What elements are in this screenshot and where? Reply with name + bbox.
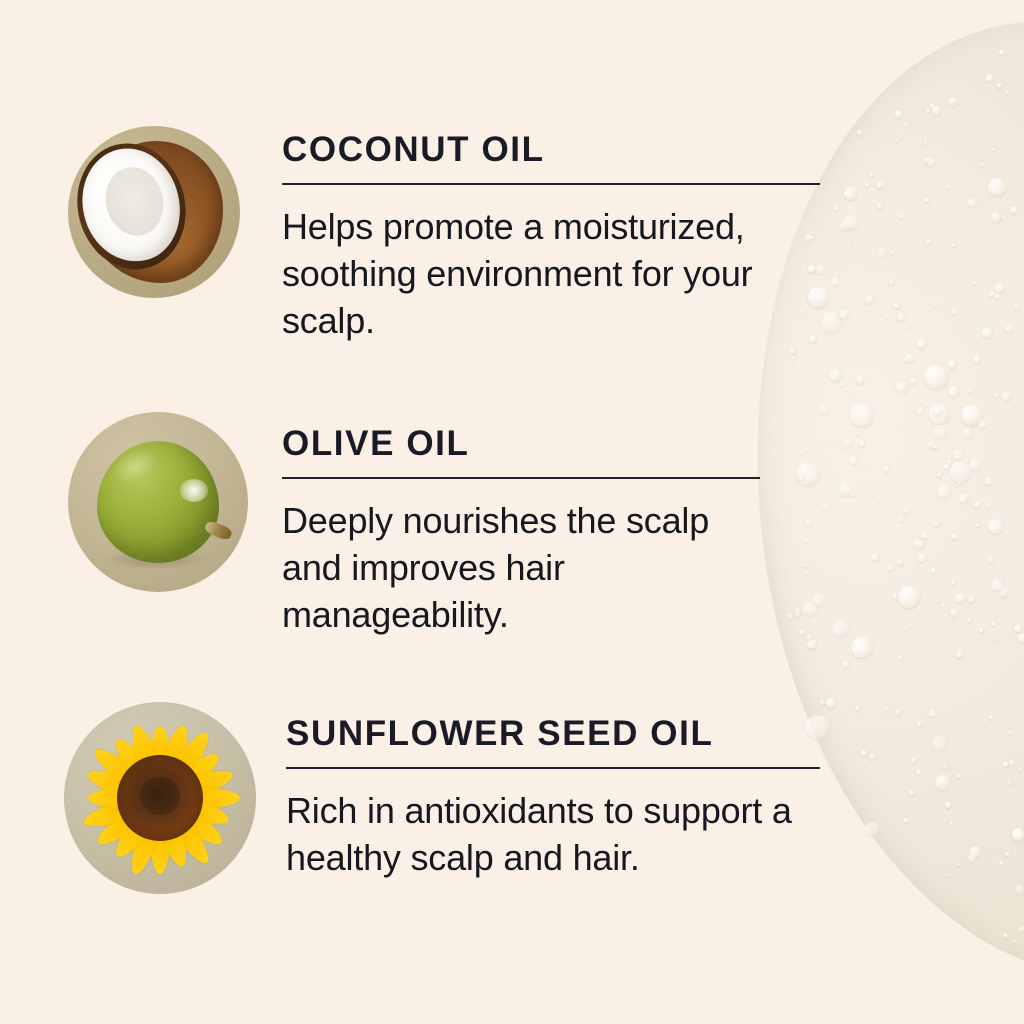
gel-bubble <box>988 291 994 297</box>
gel-bubble <box>798 475 803 480</box>
gel-bubble <box>994 293 1000 299</box>
gel-bubble <box>850 456 859 465</box>
olive-body-shape <box>97 441 219 563</box>
gel-bubble <box>926 158 934 166</box>
gel-bubble <box>807 635 812 640</box>
gel-bubble <box>811 465 815 469</box>
gel-bubble <box>1013 302 1020 309</box>
gel-bubble <box>831 277 840 286</box>
gel-bubble <box>985 477 993 485</box>
ingredient-benefits-poster: COCONUT OIL Helps promote a moisturized,… <box>0 0 1024 1024</box>
gel-bubble <box>968 390 971 393</box>
gel-bubble <box>861 750 867 756</box>
gel-bubble <box>970 846 982 858</box>
gel-bubble <box>941 603 945 607</box>
gel-bubble <box>972 281 976 285</box>
gel-bubble <box>924 198 929 203</box>
gel-bubble <box>1012 828 1024 840</box>
gel-bubble <box>911 758 916 763</box>
gel-bubble <box>956 774 960 778</box>
gel-bubble <box>933 444 937 448</box>
gel-bubble <box>868 161 871 164</box>
gel-bubble <box>896 382 907 393</box>
gel-bubble <box>937 484 951 498</box>
coconut-image <box>68 126 240 298</box>
gel-bubble <box>866 296 874 304</box>
gel-bubble <box>902 623 905 626</box>
gel-bubble <box>904 508 909 513</box>
gel-bubble <box>963 428 973 438</box>
ingredient-item-olive-oil: OLIVE OIL Deeply nourishes the scalp and… <box>68 408 760 638</box>
gel-bubble <box>952 308 959 315</box>
gel-bubble <box>947 460 952 465</box>
sunflower-image <box>64 702 256 894</box>
gel-bubble <box>804 539 808 543</box>
gel-bubble <box>974 502 980 508</box>
gel-bubble <box>905 381 908 384</box>
gel-bubble <box>976 523 980 527</box>
gel-bubble <box>951 533 958 540</box>
gel-bubble <box>945 802 950 807</box>
gel-bubble <box>830 443 834 447</box>
gel-bubble <box>991 212 1000 221</box>
gel-bubble <box>802 602 817 617</box>
gel-bubble <box>998 586 1009 597</box>
gel-bubble <box>805 570 809 574</box>
gel-bubble <box>918 554 926 562</box>
ingredient-item-sunflower-seed-oil: SUNFLOWER SEED OIL Rich in antioxidants … <box>64 700 831 894</box>
gel-bubble <box>951 580 956 585</box>
gel-bubble <box>989 715 994 720</box>
gel-bubble <box>851 186 857 192</box>
sunflower-seed-oil-description: Rich in antioxidants to support a health… <box>286 787 831 881</box>
gel-bubble <box>891 251 894 254</box>
gel-bubble <box>999 174 1003 178</box>
gel-bubble <box>986 502 992 508</box>
gel-bubble <box>1014 625 1022 633</box>
gel-bubble <box>871 492 874 495</box>
gel-bubble <box>1009 760 1014 765</box>
gel-bubble <box>935 775 950 790</box>
gel-bubble <box>1010 206 1017 213</box>
gel-bubble <box>988 519 1003 534</box>
gel-bubble <box>851 637 873 659</box>
gel-bubble <box>932 106 941 115</box>
gel-bubble <box>973 355 981 363</box>
gel-bubble <box>892 593 898 599</box>
gel-bubble <box>881 521 885 525</box>
gel-bubble <box>966 459 970 463</box>
gel-bubble <box>899 214 904 219</box>
gel-bubble <box>871 554 879 562</box>
gel-bubble <box>1002 391 1012 401</box>
gel-bubble <box>855 706 860 711</box>
gel-bubble <box>944 464 949 469</box>
gel-bubble <box>924 141 927 144</box>
gel-bubble <box>924 404 927 407</box>
gel-bubble <box>804 564 807 567</box>
gel-bubble <box>986 74 994 82</box>
gel-bubble <box>884 466 889 471</box>
gel-bubble <box>989 321 992 324</box>
gel-bubble <box>1018 768 1021 771</box>
gel-bubble <box>948 386 959 397</box>
gel-bubble <box>961 404 983 426</box>
gel-bubble <box>806 437 809 440</box>
gel-bubble <box>833 206 839 212</box>
gel-bubble <box>968 596 975 603</box>
gel-bubble <box>893 303 899 309</box>
gel-bubble <box>953 450 963 460</box>
gel-bubble <box>897 655 902 660</box>
gel-bubble <box>832 621 848 637</box>
gel-bubble <box>895 110 903 118</box>
gel-bubble <box>905 354 914 363</box>
gel-bubble <box>991 622 995 626</box>
gel-bubble <box>947 185 952 190</box>
gel-bubble <box>999 861 1003 865</box>
coconut-oil-text-block: COCONUT OIL Helps promote a moisturized,… <box>282 118 820 344</box>
gel-bubble <box>991 889 994 892</box>
gel-bubble <box>1005 90 1009 94</box>
gel-bubble <box>991 579 1004 592</box>
gel-bubble <box>993 637 996 640</box>
gel-bubble <box>799 629 805 635</box>
gel-bubble <box>958 481 961 484</box>
gel-bubble <box>928 709 937 718</box>
gel-bubble <box>805 520 811 526</box>
gel-bubble <box>903 357 909 363</box>
gel-bubble <box>822 502 830 510</box>
gel-bubble <box>992 148 995 151</box>
gel-bubble <box>903 326 907 330</box>
gel-bubble <box>847 244 851 248</box>
gel-bubble <box>829 369 842 382</box>
gel-bubble <box>850 403 874 427</box>
gel-bubble <box>955 593 965 603</box>
gel-bubble <box>931 568 937 574</box>
gel-bubble <box>957 863 960 866</box>
gel-bubble <box>899 517 904 522</box>
sunflower-core <box>140 777 180 815</box>
gel-bubble <box>843 215 857 229</box>
gel-bubble <box>934 521 939 526</box>
gel-bubble <box>839 310 848 319</box>
gel-bubble <box>968 854 976 862</box>
gel-bubble <box>917 339 926 348</box>
gel-bubble <box>865 462 868 465</box>
gel-bubble <box>819 404 829 414</box>
gel-bubble <box>1005 852 1010 857</box>
gel-bubble <box>928 441 935 448</box>
gel-bubble <box>842 438 852 448</box>
coconut-oil-divider <box>282 183 820 185</box>
gel-bubble <box>967 198 976 207</box>
gel-bubble <box>796 612 800 616</box>
gel-bubble <box>948 873 951 876</box>
gel-bubble <box>877 203 883 209</box>
gel-bubble <box>859 441 865 447</box>
gel-bubble <box>801 450 805 454</box>
gel-bubble <box>934 422 939 427</box>
gel-bubble <box>807 639 817 649</box>
gel-bubble <box>888 565 894 571</box>
gel-bubble <box>878 248 885 255</box>
gel-bubble <box>857 130 862 135</box>
olive-oil-description: Deeply nourishes the scalp and improves … <box>282 497 752 638</box>
gel-bubble <box>1005 325 1012 332</box>
gel-bubble <box>950 822 954 826</box>
gel-bubble <box>937 473 941 477</box>
gel-bubble <box>988 178 1006 196</box>
gel-bubble <box>978 420 987 429</box>
gel-bubble <box>982 327 993 338</box>
gel-bubble <box>924 157 929 162</box>
gel-bubble <box>1015 885 1024 894</box>
gel-bubble <box>935 599 938 602</box>
gel-bubble <box>995 283 1005 293</box>
gel-bubble <box>967 618 971 622</box>
gel-bubble <box>840 221 851 232</box>
gel-bubble <box>933 425 947 439</box>
olive-highlight <box>180 479 209 502</box>
gel-bubble <box>797 377 801 381</box>
gel-bubble <box>1018 633 1024 643</box>
gel-bubble <box>869 172 874 177</box>
olive-oil-heading: OLIVE OIL <box>282 426 760 463</box>
gel-bubble <box>812 593 825 606</box>
gel-bubble <box>796 462 820 486</box>
gel-bubble <box>895 139 898 142</box>
olive-oil-divider <box>282 477 760 479</box>
gel-bubble <box>1001 592 1006 597</box>
gel-bubble <box>869 753 875 759</box>
gel-bubble <box>1002 216 1005 219</box>
gel-bubble <box>909 790 915 796</box>
gel-bubble <box>951 441 954 444</box>
gel-bubble <box>988 557 994 563</box>
gel-bubble <box>932 736 947 751</box>
gel-bubble <box>839 482 853 496</box>
gel-bubble <box>905 627 909 631</box>
gel-bubble <box>925 239 931 245</box>
gel-bubble <box>956 651 963 658</box>
gel-bubble <box>857 431 861 435</box>
coconut-oil-description: Helps promote a moisturized, soothing en… <box>282 203 802 344</box>
gel-bubble <box>952 243 956 247</box>
gel-bubble <box>926 109 930 113</box>
gel-bubble <box>897 313 905 321</box>
gel-bubble <box>889 280 894 285</box>
gel-bubble <box>934 408 942 416</box>
gel-bubble <box>948 97 957 106</box>
gel-bubble <box>943 764 948 769</box>
gel-bubble <box>981 163 984 166</box>
gel-bubble <box>1019 926 1024 931</box>
gel-bubble <box>854 391 857 394</box>
gel-bubble <box>856 376 864 384</box>
gel-bubble <box>847 428 850 431</box>
gel-bubble <box>821 312 842 333</box>
gel-bubble <box>795 608 800 613</box>
gel-bubble <box>1007 780 1012 785</box>
gel-bubble <box>950 608 958 616</box>
gel-bubble <box>999 50 1004 55</box>
gel-bubble <box>929 404 949 424</box>
sunflower-seed-oil-text-block: SUNFLOWER SEED OIL Rich in antioxidants … <box>286 700 831 881</box>
gel-bubble <box>850 491 855 496</box>
gel-bubble <box>844 187 857 200</box>
gel-bubble <box>860 164 863 167</box>
sunflower-seed-oil-divider <box>286 767 820 769</box>
gel-bubble <box>910 378 916 384</box>
gel-bubble <box>916 769 922 775</box>
gel-bubble <box>885 707 889 711</box>
gel-bubble <box>840 383 843 386</box>
olive-oil-text-block: OLIVE OIL Deeply nourishes the scalp and… <box>282 408 760 638</box>
gel-bubble <box>948 360 956 368</box>
gel-bubble <box>921 531 929 539</box>
gel-bubble <box>842 661 849 668</box>
ingredient-item-coconut-oil: COCONUT OIL Helps promote a moisturized,… <box>68 118 820 344</box>
gel-bubble <box>934 302 938 306</box>
gel-bubble <box>997 378 1000 381</box>
gel-bubble <box>1003 761 1009 767</box>
gel-bubble <box>897 559 903 565</box>
gel-bubble <box>898 586 919 607</box>
gel-bubble <box>865 183 869 187</box>
gel-bubble <box>1003 933 1008 938</box>
gel-bubble <box>997 83 1002 88</box>
gel-bubble <box>916 407 924 415</box>
gel-bubble <box>1013 940 1016 943</box>
gel-bubble <box>930 104 934 108</box>
gel-bubble <box>877 184 881 188</box>
gel-bubble <box>969 458 982 471</box>
gel-bubble <box>953 616 956 619</box>
gel-bubble <box>940 456 943 459</box>
gel-bubble <box>791 356 795 360</box>
gel-bubble <box>1009 731 1013 735</box>
gel-bubble <box>914 539 924 549</box>
gel-bubble <box>904 818 908 822</box>
gel-bubble <box>876 181 885 190</box>
gel-bubble <box>924 365 948 389</box>
olive-image <box>68 412 248 592</box>
gel-bubble <box>950 461 972 483</box>
gel-bubble <box>790 349 795 354</box>
sunflower-seed-oil-heading: SUNFLOWER SEED OIL <box>286 716 831 753</box>
gel-bubble <box>885 315 888 318</box>
gel-bubble <box>904 122 909 127</box>
gel-bubble <box>902 423 905 426</box>
gel-bubble <box>787 613 793 619</box>
gel-bubble <box>895 710 901 716</box>
gel-bubble <box>865 822 878 835</box>
gel-bubble <box>917 721 921 725</box>
gel-bubble <box>993 393 998 398</box>
gel-bubble <box>979 628 984 633</box>
coconut-oil-heading: COCONUT OIL <box>282 132 820 169</box>
gel-bubble <box>963 644 966 647</box>
gel-bubble <box>959 494 968 503</box>
